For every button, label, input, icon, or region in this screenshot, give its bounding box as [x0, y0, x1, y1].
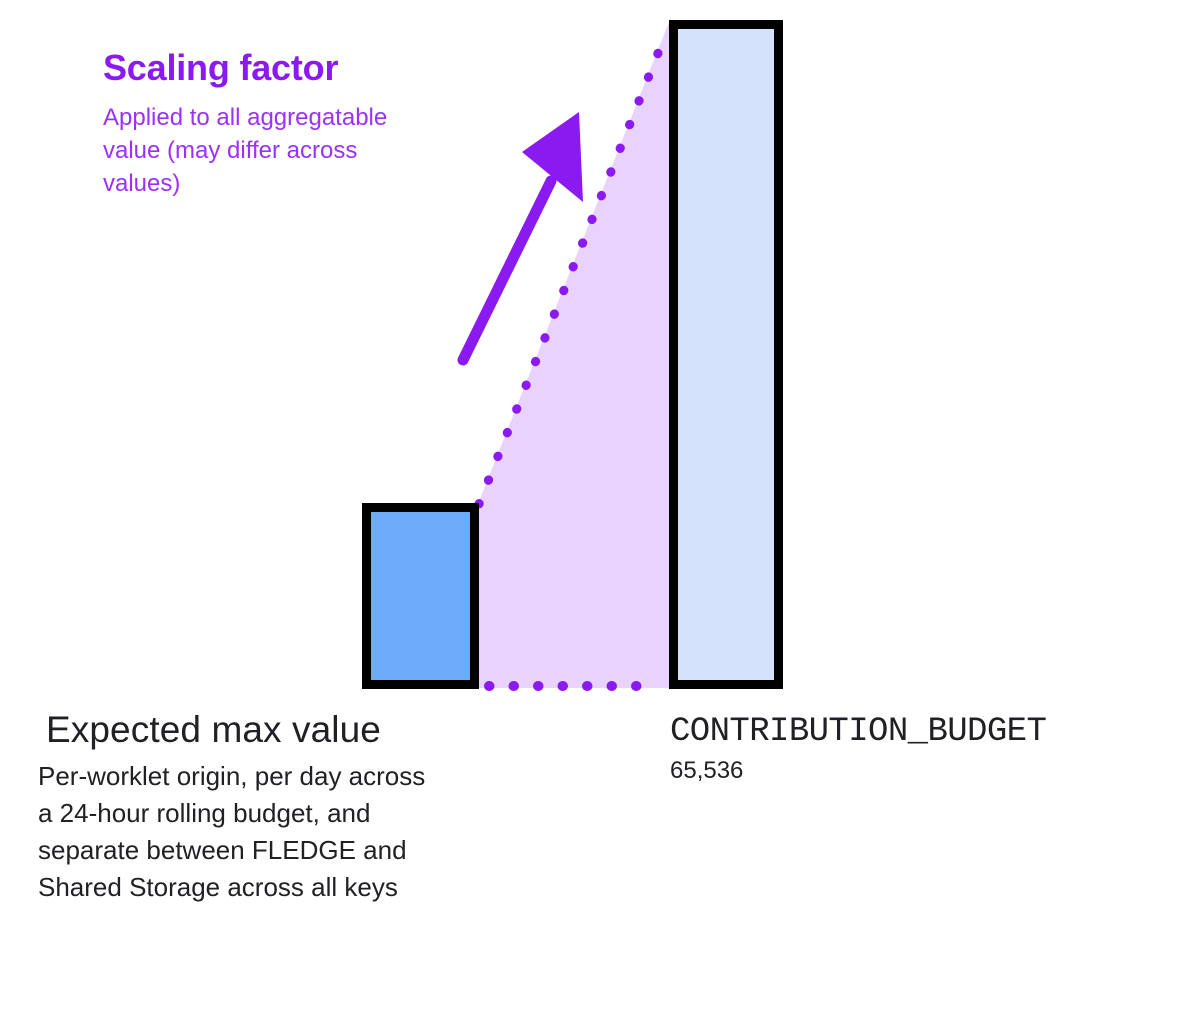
expected-max-value-caption: Expected max value Per-worklet origin, p…: [46, 708, 476, 906]
contribution-budget-value: 65,536: [670, 756, 1190, 786]
expected-max-value-description: Per-worklet origin, per day across a 24-…: [38, 758, 433, 906]
contribution-budget-title: CONTRIBUTION_BUDGET: [670, 712, 1190, 752]
scaling-arrow-shaft: [463, 181, 551, 360]
contribution-budget-caption: CONTRIBUTION_BUDGET 65,536: [670, 712, 1190, 786]
expected-max-value-bar: [367, 508, 475, 685]
contribution-budget-bar: [674, 25, 779, 685]
expected-max-value-title: Expected max value: [46, 708, 476, 752]
annotation-title: Scaling factor: [103, 47, 443, 89]
scaling-factor-annotation: Scaling factor Applied to all aggregatab…: [103, 47, 443, 200]
diagram-canvas: Scaling factor Applied to all aggregatab…: [0, 0, 1200, 1022]
annotation-body: Applied to all aggregatable value (may d…: [103, 101, 413, 200]
